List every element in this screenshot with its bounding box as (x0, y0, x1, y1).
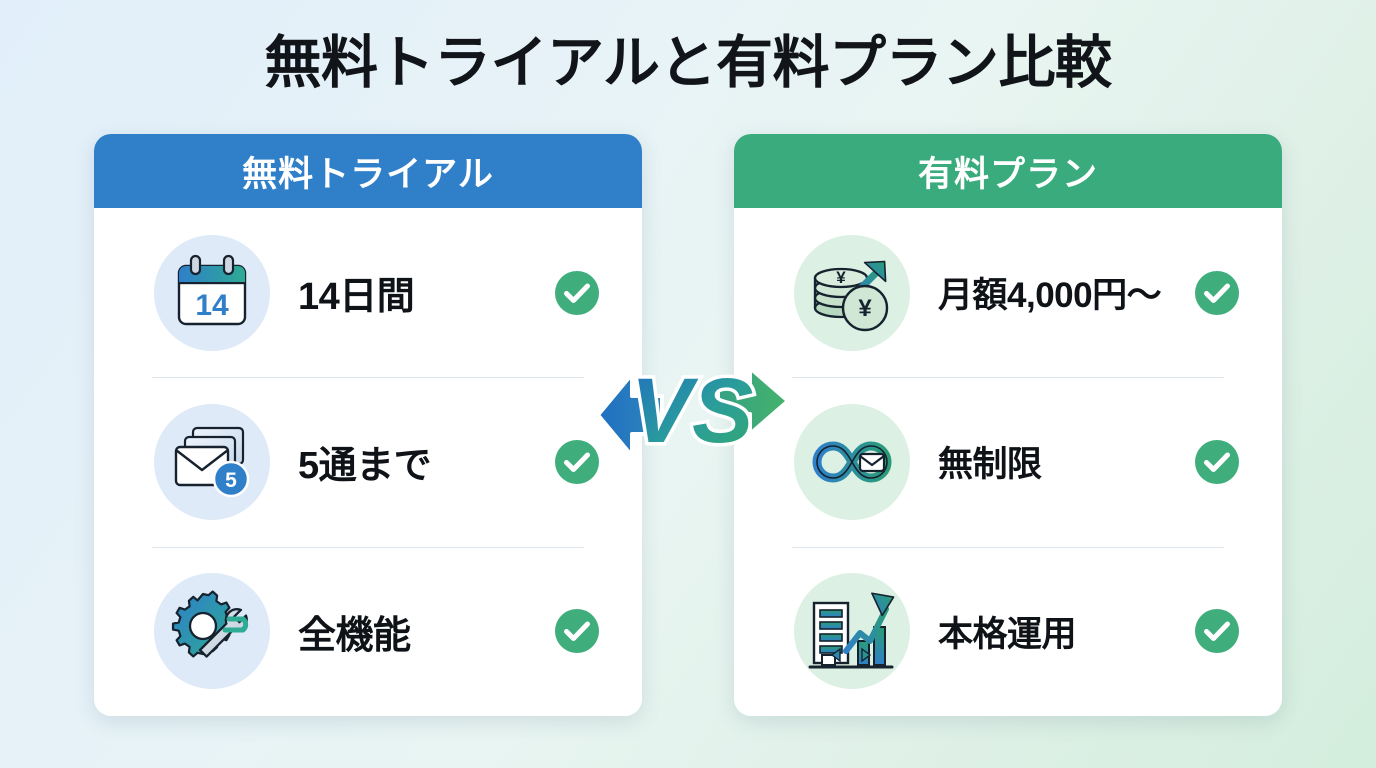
svg-text:14: 14 (195, 289, 229, 322)
check-circle-icon (554, 270, 600, 316)
feature-row: ¥ ¥ 月額4,000円〜 (760, 208, 1256, 377)
feature-label: 5通まで (298, 434, 554, 489)
check-circle-icon (1194, 270, 1240, 316)
check-circle-icon (554, 608, 600, 654)
feature-row: 14 14日間 (120, 208, 616, 377)
card-free-trial: 無料トライアル (94, 134, 642, 716)
feature-label: 14日間 (298, 265, 554, 320)
feature-label: 月額4,000円〜 (938, 267, 1194, 318)
card-paid-plan: 有料プラン (734, 134, 1282, 716)
card-body-paid-plan: ¥ ¥ 月額4,000円〜 (734, 208, 1282, 716)
check-circle-icon (1194, 439, 1240, 485)
stacked-mail-5-icon: 5 (154, 404, 270, 520)
svg-text:¥: ¥ (858, 295, 872, 322)
check-circle-icon (554, 439, 600, 485)
feature-label: 無制限 (938, 436, 1194, 487)
card-body-free-trial: 14 14日間 (94, 208, 642, 716)
svg-text:5: 5 (225, 469, 237, 492)
feature-row: 無制限 (760, 377, 1256, 546)
card-header-free-trial: 無料トライアル (94, 134, 642, 208)
svg-text:¥: ¥ (836, 268, 846, 287)
feature-row: 5 5通まで (120, 377, 616, 546)
comparison-infographic: 無料トライアルと有料プラン比較 無料トライアル (0, 0, 1376, 768)
card-header-paid-plan: 有料プラン (734, 134, 1282, 208)
check-circle-icon (1194, 608, 1240, 654)
feature-label: 本格運用 (938, 606, 1194, 657)
vs-badge: VS (596, 356, 792, 482)
calendar-14-icon: 14 (154, 235, 270, 351)
feature-row: 本格運用 (760, 547, 1256, 716)
feature-row: 全機能 (120, 547, 616, 716)
building-growth-chart-icon (794, 573, 910, 689)
feature-label: 全機能 (298, 604, 554, 659)
gear-wrench-icon (154, 573, 270, 689)
vs-label: VS (631, 360, 754, 462)
infinity-mail-icon (794, 404, 910, 520)
coins-yen-growth-icon: ¥ ¥ (794, 235, 910, 351)
page-title: 無料トライアルと有料プラン比較 (0, 28, 1376, 98)
